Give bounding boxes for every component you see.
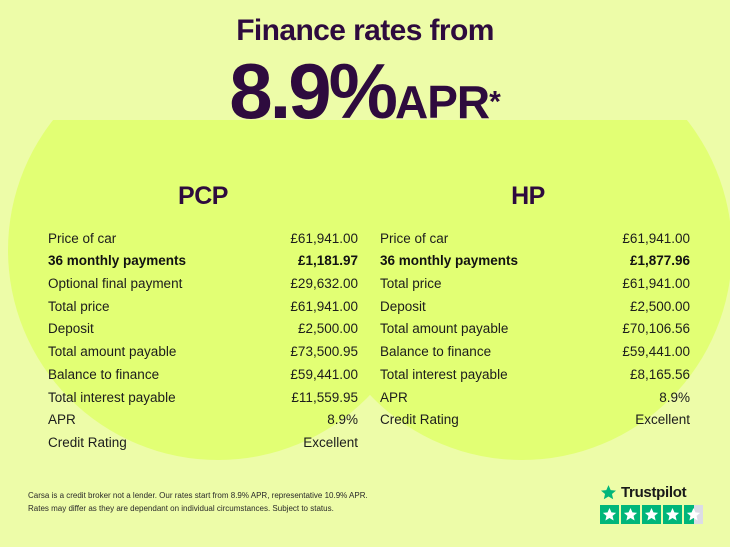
row-value: £1,877.96: [588, 250, 690, 273]
row-value: £8,165.56: [588, 363, 690, 386]
disclaimer-text: Carsa is a credit broker not a lender. O…: [28, 489, 498, 515]
row-value: £59,441.00: [256, 363, 358, 386]
banner-content: Finance rates from 8.9%APR* PCP Price of…: [0, 0, 730, 547]
finance-comparison: PCP Price of car£61,941.0036 monthly pay…: [0, 182, 730, 454]
table-row: 36 monthly payments£1,181.97: [48, 250, 358, 273]
row-value: Excellent: [256, 431, 358, 454]
row-label: APR: [380, 386, 588, 409]
row-value: £2,500.00: [256, 318, 358, 341]
row-value: 8.9%: [588, 386, 690, 409]
row-value: £61,941.00: [256, 227, 358, 250]
table-row: APR8.9%: [380, 386, 690, 409]
plan-hp-table: Price of car£61,941.0036 monthly payment…: [380, 227, 690, 431]
trustpilot-star-rating: [600, 505, 712, 524]
table-row: Price of car£61,941.00: [380, 227, 690, 250]
trustpilot-star-icon: [663, 505, 682, 524]
table-row: Credit RatingExcellent: [380, 409, 690, 432]
table-row: Credit RatingExcellent: [48, 431, 358, 454]
row-label: 36 monthly payments: [48, 250, 256, 273]
row-value: £61,941.00: [588, 227, 690, 250]
trustpilot-logo-star-icon: [600, 484, 617, 501]
row-value: £61,941.00: [256, 295, 358, 318]
row-label: Deposit: [380, 295, 588, 318]
plan-pcp-table: Price of car£61,941.0036 monthly payment…: [48, 227, 358, 454]
row-value: £59,441.00: [588, 341, 690, 364]
row-label: APR: [48, 409, 256, 432]
row-label: Balance to finance: [48, 363, 256, 386]
trustpilot-star-icon: [642, 505, 661, 524]
row-label: Total interest payable: [48, 386, 256, 409]
table-row: Deposit£2,500.00: [380, 295, 690, 318]
row-value: Excellent: [588, 409, 690, 432]
table-row: Total interest payable£8,165.56: [380, 363, 690, 386]
headline-rate-line: 8.9%APR*: [0, 52, 730, 130]
row-value: £73,500.95: [256, 341, 358, 364]
row-label: Total amount payable: [380, 318, 588, 341]
headline-rate-value: 8.9%: [229, 47, 395, 135]
row-label: Deposit: [48, 318, 256, 341]
row-label: Credit Rating: [380, 409, 588, 432]
trustpilot-half-star-icon: [684, 505, 703, 524]
row-label: Total interest payable: [380, 363, 588, 386]
row-value: 8.9%: [256, 409, 358, 432]
row-label: Credit Rating: [48, 431, 256, 454]
headline-subtitle: Finance rates from: [0, 16, 730, 46]
row-value: £70,106.56: [588, 318, 690, 341]
row-value: £29,632.00: [256, 272, 358, 295]
table-row: Optional final payment£29,632.00: [48, 272, 358, 295]
table-row: Price of car£61,941.00: [48, 227, 358, 250]
trustpilot-widget[interactable]: Trustpilot: [600, 483, 712, 524]
row-value: £11,559.95: [256, 386, 358, 409]
row-label: Total price: [48, 295, 256, 318]
headline-apr-label: APR: [395, 76, 489, 128]
trustpilot-star-icon: [621, 505, 640, 524]
headline-block: Finance rates from 8.9%APR*: [0, 16, 730, 130]
row-label: 36 monthly payments: [380, 250, 588, 273]
row-label: Price of car: [48, 227, 256, 250]
trustpilot-wordmark: Trustpilot: [621, 485, 686, 500]
row-value: £2,500.00: [588, 295, 690, 318]
table-row: Balance to finance£59,441.00: [48, 363, 358, 386]
table-row: 36 monthly payments£1,877.96: [380, 250, 690, 273]
table-row: Total interest payable£11,559.95: [48, 386, 358, 409]
row-value: £1,181.97: [256, 250, 358, 273]
trustpilot-header: Trustpilot: [600, 483, 712, 501]
table-row: Balance to finance£59,441.00: [380, 341, 690, 364]
table-row: Deposit£2,500.00: [48, 318, 358, 341]
table-row: Total price£61,941.00: [380, 272, 690, 295]
trustpilot-star-icon: [600, 505, 619, 524]
row-label: Price of car: [380, 227, 588, 250]
plan-hp: HP Price of car£61,941.0036 monthly paym…: [380, 182, 690, 454]
row-label: Balance to finance: [380, 341, 588, 364]
row-label: Total price: [380, 272, 588, 295]
disclaimer-line-1: Carsa is a credit broker not a lender. O…: [28, 489, 498, 502]
table-row: Total amount payable£70,106.56: [380, 318, 690, 341]
row-label: Total amount payable: [48, 341, 256, 364]
headline-asterisk: *: [489, 86, 501, 119]
table-row: APR8.9%: [48, 409, 358, 432]
disclaimer-line-2: Rates may differ as they are dependant o…: [28, 502, 498, 515]
plan-pcp: PCP Price of car£61,941.0036 monthly pay…: [48, 182, 358, 454]
row-label: Optional final payment: [48, 272, 256, 295]
table-row: Total price£61,941.00: [48, 295, 358, 318]
promo-banner: Finance rates from 8.9%APR* PCP Price of…: [0, 0, 730, 547]
row-value: £61,941.00: [588, 272, 690, 295]
plan-hp-title: HP: [380, 182, 690, 211]
table-row: Total amount payable£73,500.95: [48, 341, 358, 364]
plan-pcp-title: PCP: [48, 182, 358, 211]
